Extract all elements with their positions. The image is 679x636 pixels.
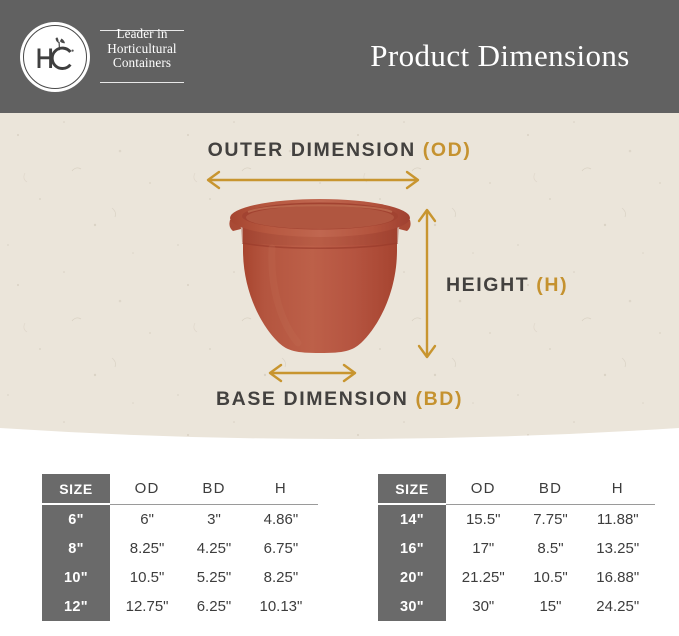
tagline-line-2: Horticultural [100,42,184,57]
cell-od: 10.5" [110,563,184,592]
table-row: 12" 12.75" 6.25" 10.13" [42,592,318,621]
height-arrow [419,210,435,357]
cell-od: 8.25" [110,534,184,563]
column-header-size: SIZE [378,474,446,504]
cell-size: 12" [42,592,110,621]
column-header-bd: BD [184,474,244,504]
diagram-content: OUTER DIMENSION (OD) BASE DIMENSION (BD)… [0,113,679,443]
cell-od: 30" [446,592,520,621]
cell-od: 17" [446,534,520,563]
outer-dimension-arrow [208,172,418,188]
table-header-row: SIZE OD BD H [42,474,318,504]
column-header-od: OD [446,474,520,504]
column-header-od: OD [110,474,184,504]
cell-h: 4.86" [244,504,318,534]
cell-bd: 7.75" [520,504,580,534]
dimension-table-small-sizes: SIZE OD BD H 6" 6" 3" 4.86" 8" 8.25" 4.2… [42,474,318,621]
column-header-h: H [580,474,655,504]
table-row: 8" 8.25" 4.25" 6.75" [42,534,318,563]
cell-h: 6.75" [244,534,318,563]
brand-logo [20,22,90,92]
logo-divider-bottom [100,82,184,83]
tagline-line-3: Containers [100,56,184,71]
cell-od: 21.25" [446,563,520,592]
table-row: 30" 30" 15" 24.25" [378,592,655,621]
cell-size: 16" [378,534,446,563]
cell-size: 20" [378,563,446,592]
column-header-bd: BD [520,474,580,504]
table-row: 20" 21.25" 10.5" 16.88" [378,563,655,592]
tagline-line-1: Leader in [100,27,184,42]
table-row: 16" 17" 8.5" 13.25" [378,534,655,563]
product-dimensions-infographic: Leader in Horticultural Containers Produ… [0,0,679,636]
cell-h: 10.13" [244,592,318,621]
base-dimension-arrow [270,365,355,381]
planter-pot-illustration [222,198,418,364]
cell-size: 14" [378,504,446,534]
table-header-row: SIZE OD BD H [378,474,655,504]
logo-monogram-icon [20,22,90,92]
cell-h: 16.88" [580,563,655,592]
cell-size: 8" [42,534,110,563]
cell-h: 11.88" [580,504,655,534]
cell-od: 15.5" [446,504,520,534]
cell-bd: 8.5" [520,534,580,563]
cell-size: 10" [42,563,110,592]
cell-bd: 3" [184,504,244,534]
cell-size: 30" [378,592,446,621]
cell-od: 6" [110,504,184,534]
cell-h: 24.25" [580,592,655,621]
cell-size: 6" [42,504,110,534]
table-row: 14" 15.5" 7.75" 11.88" [378,504,655,534]
cell-bd: 4.25" [184,534,244,563]
page-title: Product Dimensions [340,38,660,74]
header-bar: Leader in Horticultural Containers Produ… [0,0,679,113]
cell-bd: 5.25" [184,563,244,592]
column-header-size: SIZE [42,474,110,504]
diagram-panel: OUTER DIMENSION (OD) BASE DIMENSION (BD)… [0,113,679,443]
column-header-h: H [244,474,318,504]
cell-bd: 10.5" [520,563,580,592]
cell-od: 12.75" [110,592,184,621]
table-row: 10" 10.5" 5.25" 8.25" [42,563,318,592]
cell-h: 13.25" [580,534,655,563]
pot-rim-opening [246,206,394,229]
cell-bd: 15" [520,592,580,621]
cell-bd: 6.25" [184,592,244,621]
cell-h: 8.25" [244,563,318,592]
brand-tagline: Leader in Horticultural Containers [100,27,184,71]
table-row: 6" 6" 3" 4.86" [42,504,318,534]
dimension-table-large-sizes: SIZE OD BD H 14" 15.5" 7.75" 11.88" 16" … [378,474,655,621]
